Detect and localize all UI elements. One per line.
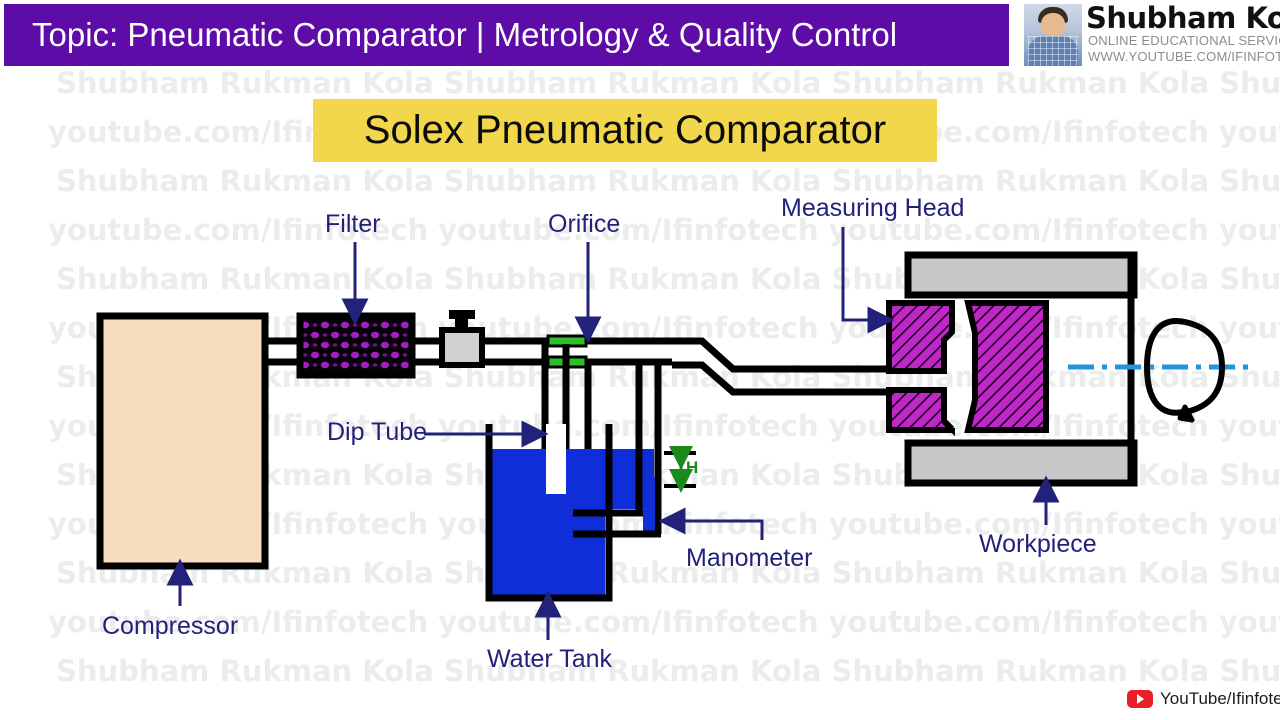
footer-channel-text: YouTube/Ifinfotech xyxy=(1160,689,1280,709)
youtube-icon xyxy=(1127,690,1153,708)
label-measuring-head: Measuring Head xyxy=(781,194,964,223)
brand-url: WWW.YOUTUBE.COM/IFINFOTECH xyxy=(1088,49,1280,64)
label-dip-tube: Dip Tube xyxy=(327,418,427,447)
label-workpiece: Workpiece xyxy=(979,530,1097,559)
compressor-component xyxy=(100,316,265,566)
pipe-compressor-to-filter xyxy=(263,341,302,362)
rotation-arrow-icon xyxy=(1147,321,1222,420)
label-height-h: H xyxy=(686,458,698,478)
shirt-pattern-icon xyxy=(1028,36,1078,66)
brand-name: Shubham Kola xyxy=(1086,1,1280,35)
face-shape-icon xyxy=(1041,13,1065,37)
filter-component xyxy=(300,316,412,375)
slide-canvas: Shubham Rukman Kola Shubham Rukman Kola … xyxy=(0,0,1280,720)
slide-title-banner: Solex Pneumatic Comparator xyxy=(313,99,937,162)
presenter-photo-icon xyxy=(1024,4,1082,66)
label-orifice: Orifice xyxy=(548,210,620,239)
pipe-to-measuring-head xyxy=(665,341,888,392)
control-valve-component[interactable] xyxy=(442,310,482,365)
label-filter: Filter xyxy=(325,210,381,239)
label-compressor: Compressor xyxy=(102,612,238,641)
brand-block: Shubham Kola ONLINE EDUCATIONAL SERVICES… xyxy=(1022,2,1278,68)
topic-title: Topic: Pneumatic Comparator | Metrology … xyxy=(32,12,897,58)
label-manometer: Manometer xyxy=(686,544,812,573)
slide-title: Solex Pneumatic Comparator xyxy=(313,99,937,162)
footer-channel[interactable]: YouTube/Ifinfotech xyxy=(1127,689,1280,709)
measuring-head-component xyxy=(889,303,1046,430)
brand-tagline: ONLINE EDUCATIONAL SERVICES xyxy=(1088,33,1280,48)
label-water-tank: Water Tank xyxy=(487,645,612,674)
topic-banner: Topic: Pneumatic Comparator | Metrology … xyxy=(4,4,1009,66)
